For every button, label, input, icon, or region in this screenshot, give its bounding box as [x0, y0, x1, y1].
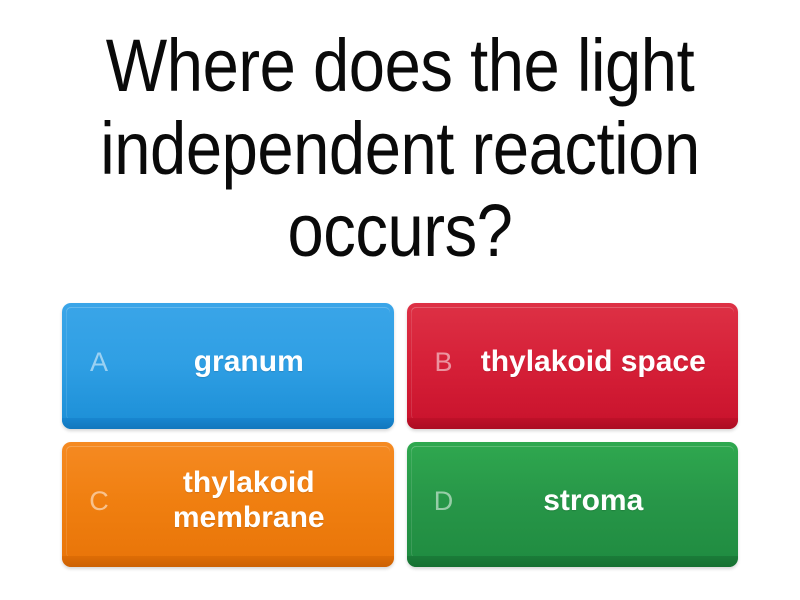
- question-area: Where does the light independent reactio…: [50, 8, 750, 290]
- button-lip-d: [407, 556, 739, 567]
- question-text: Where does the light independent reactio…: [92, 25, 708, 274]
- quiz-screen: Where does the light independent reactio…: [0, 0, 800, 600]
- answer-letter-a: A: [68, 349, 130, 376]
- answer-option-c[interactable]: C thylakoid membrane: [62, 442, 394, 568]
- answer-options-grid: A granum B thylakoid space C thylakoid m…: [62, 303, 738, 567]
- answer-label-d: stroma: [475, 484, 739, 519]
- button-lip-b: [407, 418, 739, 429]
- answer-label-c: thylakoid membrane: [130, 466, 394, 536]
- answer-letter-c: C: [68, 488, 130, 515]
- answer-letter-d: D: [413, 488, 475, 515]
- answer-label-b: thylakoid space: [475, 345, 739, 380]
- answer-option-a[interactable]: A granum: [62, 303, 394, 429]
- button-lip-c: [62, 556, 394, 567]
- answer-label-a: granum: [130, 345, 394, 380]
- answer-option-b[interactable]: B thylakoid space: [407, 303, 739, 429]
- answer-letter-b: B: [413, 349, 475, 376]
- answer-option-d[interactable]: D stroma: [407, 442, 739, 568]
- button-lip-a: [62, 418, 394, 429]
